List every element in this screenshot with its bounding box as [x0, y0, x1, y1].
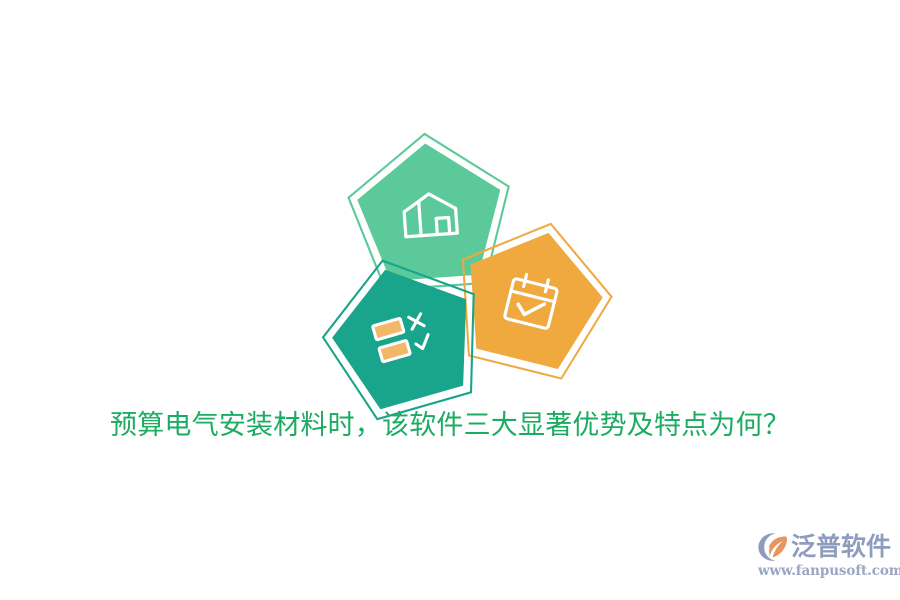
watermark-url-text: www.fanpusoft.com	[758, 563, 882, 579]
fanpu-swoosh-logo-icon	[756, 531, 790, 563]
page-canvas: 预算电气安装材料时，该软件三大显著优势及特点为何？ 泛普软件 www.fanpu…	[0, 0, 900, 600]
watermark-brand-text: 泛普软件	[791, 533, 891, 561]
page-headline: 预算电气安装材料时，该软件三大显著优势及特点为何？	[0, 409, 900, 443]
watermark-logo: 泛普软件 www.fanpusoft.com	[756, 530, 882, 586]
watermark-brand-row: 泛普软件	[756, 530, 891, 564]
pentagon-cluster-graphic	[300, 120, 620, 420]
pentagon-teal	[316, 252, 488, 404]
